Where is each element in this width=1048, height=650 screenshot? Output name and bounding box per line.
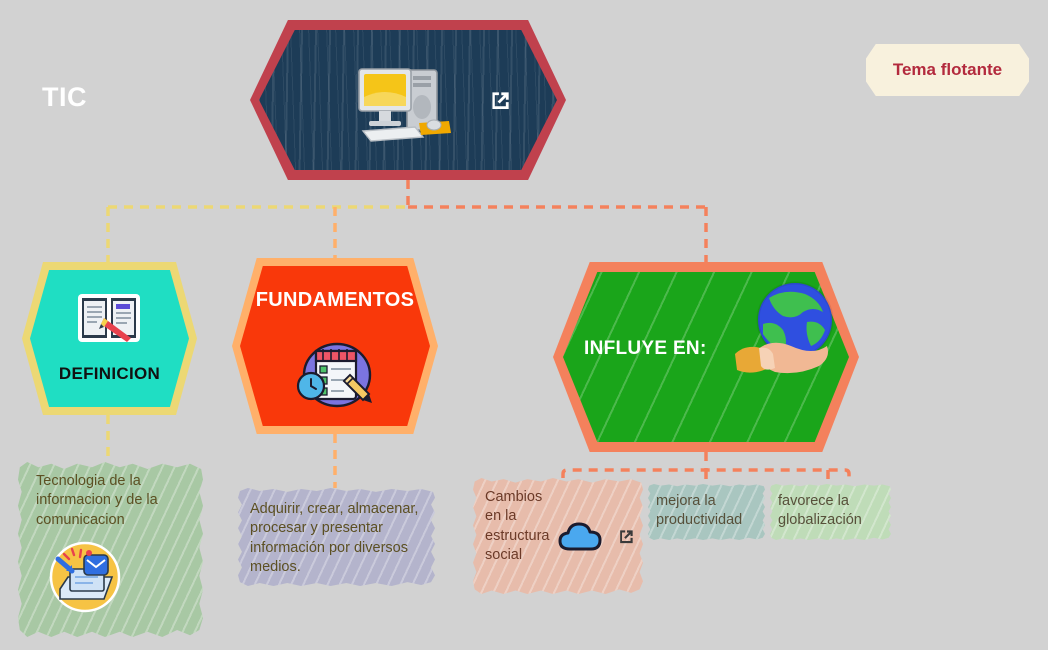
note-card-fundamentos-text: Adquirir, crear, almacenar, procesar y p… bbox=[238, 488, 435, 577]
root-node-label: TIC bbox=[42, 82, 87, 113]
floating-topic-chip[interactable]: Tema flotante bbox=[866, 44, 1029, 96]
child-card-mejora-text: mejora la productividad bbox=[648, 484, 765, 531]
branch-node-definicion-label: DEFINICION bbox=[22, 364, 197, 384]
email-folder-icon bbox=[46, 541, 124, 613]
hand-holding-globe-icon bbox=[735, 276, 851, 392]
mindmap-canvas: Tema flotante TIC bbox=[0, 0, 1048, 650]
child-card-favorece-text: favorece la globalización bbox=[770, 484, 891, 531]
floating-topic-label: Tema flotante bbox=[893, 60, 1002, 80]
checklist-clock-pencil-icon bbox=[292, 337, 378, 415]
open-book-pencil-icon bbox=[74, 288, 144, 350]
branch-node-fundamentos-label: FUNDAMENTOS bbox=[232, 289, 438, 312]
desktop-computer-icon bbox=[345, 55, 455, 150]
branch-node-influye-en-label: INFLUYE EN: bbox=[584, 338, 707, 360]
note-card-definicion-text: Tecnologia de la informacion y de la com… bbox=[18, 462, 203, 530]
note-card-fundamentos[interactable]: Adquirir, crear, almacenar, procesar y p… bbox=[238, 488, 435, 586]
external-link-icon[interactable] bbox=[616, 527, 636, 547]
cloud-icon bbox=[558, 521, 604, 555]
external-link-icon[interactable] bbox=[487, 88, 513, 114]
child-card-mejora-productividad[interactable]: mejora la productividad bbox=[648, 484, 765, 540]
child-card-cambios-text: Cambios en la estructura social bbox=[473, 478, 545, 565]
child-card-favorece-globalizacion[interactable]: favorece la globalización bbox=[770, 484, 891, 540]
